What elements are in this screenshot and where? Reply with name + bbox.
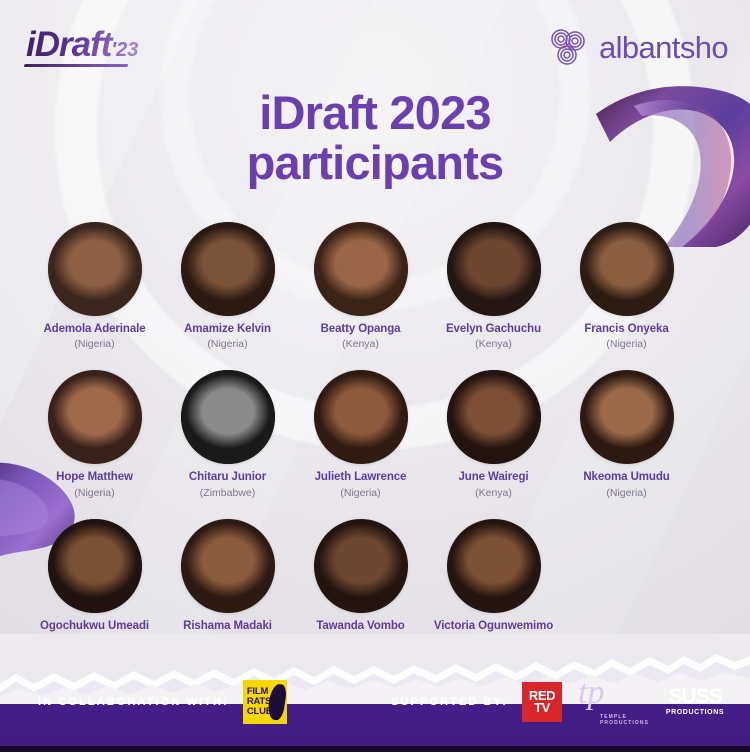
participant-name: Chitaru Junior bbox=[161, 471, 294, 484]
torn-paper-edge: IN COLLABORATION WITH: FILM RATS CLUB SU… bbox=[0, 634, 750, 752]
supported-by-label: SUPPORTED BY: bbox=[391, 696, 508, 708]
supporter-logos: RED TV tp TEMPLE PRODUCTIONS SUSS PRODUC… bbox=[522, 676, 732, 728]
participant-photo bbox=[580, 222, 674, 316]
participant-photo bbox=[447, 519, 541, 613]
participant-name: Rishama Madaki bbox=[161, 620, 294, 633]
participant-country: (Nigeria) bbox=[28, 338, 161, 350]
participant-photo bbox=[314, 519, 408, 613]
participant-card[interactable]: Evelyn Gachuchu(Kenya) bbox=[427, 222, 560, 350]
participant-name: Victoria Ogunwemimo bbox=[427, 620, 560, 633]
participant-avatar bbox=[181, 222, 275, 316]
participant-name: Julieth Lawrence bbox=[294, 471, 427, 484]
participant-avatar bbox=[181, 519, 275, 613]
participant-name: Francis Onyeka bbox=[560, 323, 693, 336]
albantsho-wordmark: albantsho bbox=[599, 32, 728, 63]
participant-country: (Nigeria) bbox=[294, 487, 427, 499]
participant-photo bbox=[314, 370, 408, 464]
participant-country: (Kenya) bbox=[294, 338, 427, 350]
participant-card[interactable]: Julieth Lawrence(Nigeria) bbox=[294, 370, 427, 498]
redtv-line2: TV bbox=[534, 702, 550, 714]
participant-avatar bbox=[48, 519, 142, 613]
temple-monogram: tp bbox=[578, 676, 642, 710]
participant-card[interactable]: Beatty Opanga(Kenya) bbox=[294, 222, 427, 350]
participant-photo bbox=[580, 370, 674, 464]
participant-avatar bbox=[447, 519, 541, 613]
participant-card[interactable]: Tawanda Vombo(Zimbabwe) bbox=[294, 519, 427, 647]
participant-avatar bbox=[314, 519, 408, 613]
participant-name: Ademola Aderinale bbox=[28, 323, 161, 336]
participant-country: (Kenya) bbox=[427, 338, 560, 350]
participant-avatar bbox=[580, 222, 674, 316]
poster-canvas: iDraft'23 albantsho iDraft 2023 particip… bbox=[0, 0, 750, 752]
participant-card[interactable]: Francis Onyeka(Nigeria) bbox=[560, 222, 693, 350]
participant-photo bbox=[181, 222, 275, 316]
participant-photo bbox=[181, 370, 275, 464]
participant-name: June Wairegi bbox=[427, 471, 560, 484]
idraft-logo-year: '23 bbox=[111, 39, 138, 61]
temple-caption: TEMPLE PRODUCTIONS bbox=[600, 714, 649, 727]
participant-card[interactable]: Ademola Aderinale(Nigeria) bbox=[28, 222, 161, 350]
participant-name: Tawanda Vombo bbox=[294, 620, 427, 633]
participant-card[interactable]: Chitaru Junior(Zimbabwe) bbox=[161, 370, 294, 498]
participant-card[interactable]: Hope Matthew(Nigeria) bbox=[28, 370, 161, 498]
participant-photo bbox=[314, 222, 408, 316]
temple-productions-logo[interactable]: tp TEMPLE PRODUCTIONS bbox=[578, 676, 642, 728]
participant-country: (Nigeria) bbox=[28, 487, 161, 499]
participant-avatar bbox=[48, 370, 142, 464]
participant-photo bbox=[181, 519, 275, 613]
participant-name: Beatty Opanga bbox=[294, 323, 427, 336]
idraft-logo-underline bbox=[24, 64, 129, 67]
redtv-logo[interactable]: RED TV bbox=[522, 682, 562, 722]
participant-avatar bbox=[314, 370, 408, 464]
page-title: iDraft 2023 participants bbox=[0, 88, 750, 189]
idraft-logo-word: iDraft bbox=[26, 25, 111, 64]
participant-avatar bbox=[447, 222, 541, 316]
participant-card[interactable]: Nkeoma Umudu(Nigeria) bbox=[560, 370, 693, 498]
participant-avatar bbox=[314, 222, 408, 316]
participant-card[interactable]: Victoria Ogunwemimo(Nigeria) bbox=[427, 519, 560, 647]
participant-name: Hope Matthew bbox=[28, 471, 161, 484]
participant-country: (Nigeria) bbox=[560, 487, 693, 499]
temple-line2: PRODUCTIONS bbox=[600, 720, 649, 726]
idraft-logo: iDraft'23 bbox=[26, 27, 138, 62]
participant-avatar bbox=[580, 370, 674, 464]
suss-productions-logo[interactable]: SUSS PRODUCTIONS bbox=[658, 688, 732, 716]
participant-card[interactable]: Rishama Madaki(Nigeria) bbox=[161, 519, 294, 647]
participant-card[interactable]: Ogochukwu Umeadi(Nigeria) bbox=[28, 519, 161, 647]
participant-card[interactable]: Amamize Kelvin(Nigeria) bbox=[161, 222, 294, 350]
participant-avatar bbox=[181, 370, 275, 464]
participant-country: (Zimbabwe) bbox=[161, 487, 294, 499]
participant-country: (Nigeria) bbox=[161, 338, 294, 350]
participant-country: (Kenya) bbox=[427, 487, 560, 499]
participant-photo bbox=[48, 519, 142, 613]
albantsho-logo: albantsho bbox=[547, 26, 728, 68]
participant-name: Amamize Kelvin bbox=[161, 323, 294, 336]
participant-photo bbox=[48, 222, 142, 316]
page-title-line2: participants bbox=[0, 138, 750, 188]
participants-row: Ademola Aderinale(Nigeria)Amamize Kelvin… bbox=[28, 222, 722, 350]
suss-subtitle: PRODUCTIONS bbox=[658, 709, 732, 716]
participants-grid: Ademola Aderinale(Nigeria)Amamize Kelvin… bbox=[28, 222, 722, 667]
participant-photo bbox=[48, 370, 142, 464]
participant-name: Nkeoma Umudu bbox=[560, 471, 693, 484]
participant-avatar bbox=[447, 370, 541, 464]
participant-photo bbox=[447, 222, 541, 316]
suss-name: SUSS bbox=[658, 688, 732, 707]
footer-content: IN COLLABORATION WITH: FILM RATS CLUB SU… bbox=[0, 658, 750, 752]
participants-row: Hope Matthew(Nigeria)Chitaru Junior(Zimb… bbox=[28, 370, 722, 498]
film-rats-club-logo[interactable]: FILM RATS CLUB bbox=[243, 680, 287, 724]
collaboration-label: IN COLLABORATION WITH: bbox=[38, 696, 229, 708]
participant-name: Ogochukwu Umeadi bbox=[28, 620, 161, 633]
participant-card[interactable]: June Wairegi(Kenya) bbox=[427, 370, 560, 498]
participant-country: (Nigeria) bbox=[560, 338, 693, 350]
page-title-line1: iDraft 2023 bbox=[0, 88, 750, 138]
albantsho-trefoil-icon bbox=[547, 26, 589, 68]
participant-photo bbox=[447, 370, 541, 464]
participant-avatar bbox=[48, 222, 142, 316]
participants-row: Ogochukwu Umeadi(Nigeria)Rishama Madaki(… bbox=[28, 519, 722, 647]
participant-name: Evelyn Gachuchu bbox=[427, 323, 560, 336]
